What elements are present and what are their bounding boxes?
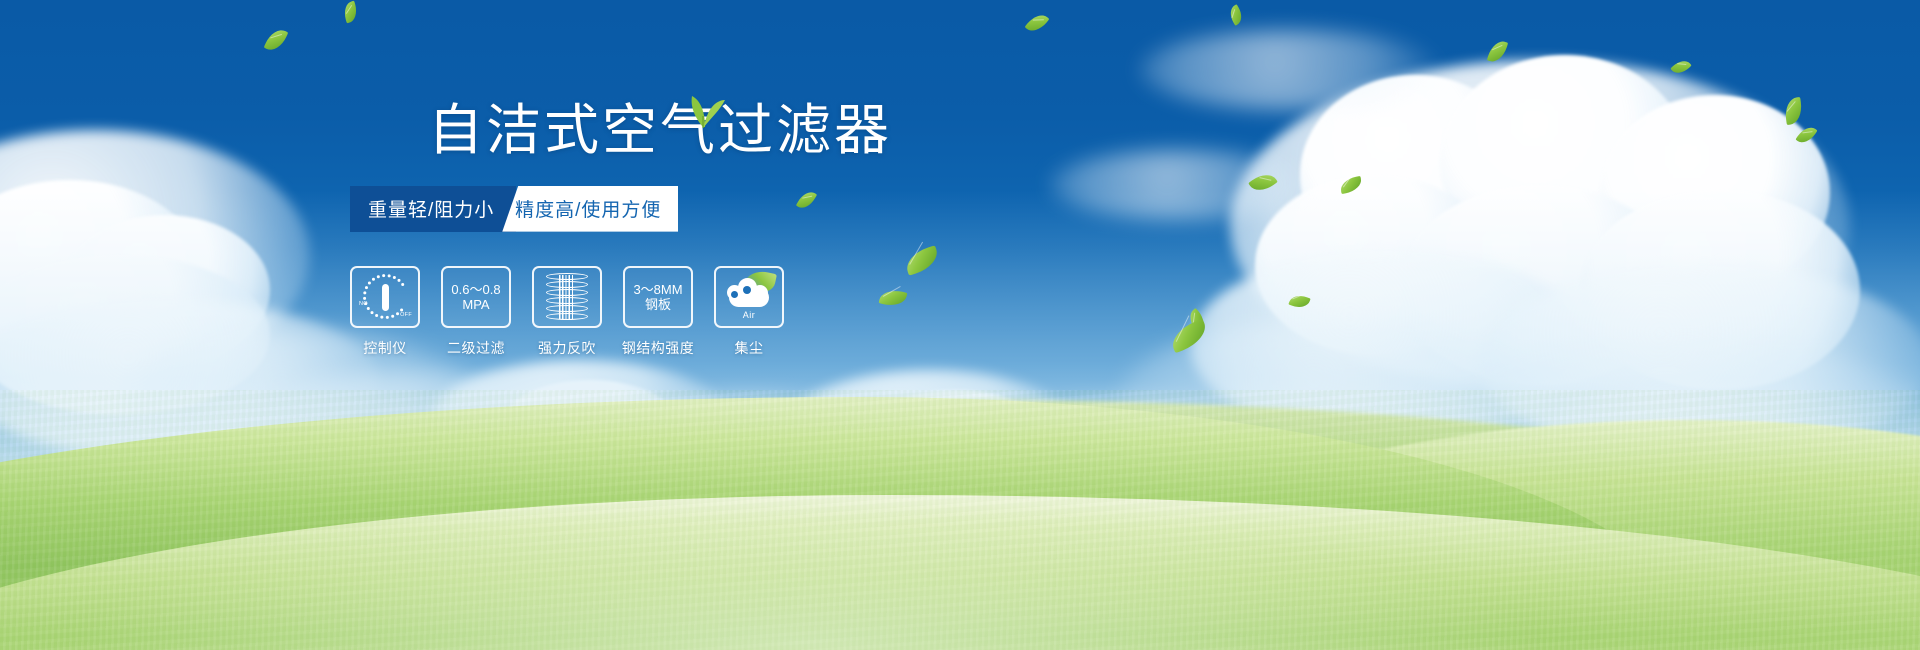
gauge-needle (382, 284, 389, 311)
feature-two-stage-filter-label: 二级过滤 (447, 338, 505, 358)
air-cloud-icon: Air (723, 274, 775, 320)
cloud-notch (731, 291, 738, 298)
feature-controller-box: NO OFF (350, 266, 420, 328)
feature-steel-strength[interactable]: 3～8MM 钢板 钢结构强度 (623, 266, 693, 358)
filter-ring (546, 313, 588, 320)
floating-leaf (1288, 292, 1310, 311)
floating-leaf (1185, 308, 1209, 333)
floating-leaf (342, 1, 360, 24)
filter-ring (546, 289, 588, 296)
floating-leaf (264, 26, 289, 55)
steel-plate-text: 钢板 (645, 297, 671, 312)
gauge-icon: NO OFF (358, 272, 412, 322)
feature-row: NO OFF 控制仪 0.6～0.8 MPA 二级过滤 (350, 266, 970, 358)
pressure-unit-text: MPA (462, 297, 489, 312)
feature-blowback[interactable]: 强力反吹 (532, 266, 602, 358)
cloud-puff (1255, 175, 1495, 355)
floating-leaf (1783, 97, 1803, 125)
cloud-puff (1300, 75, 1530, 275)
floating-leaf (1339, 176, 1363, 194)
feature-blowback-label: 强力反吹 (538, 338, 596, 358)
feature-steel-strength-box: 3～8MM 钢板 (623, 266, 693, 328)
page-title: 自洁式空气过滤器 (350, 100, 970, 162)
badge-light-weight[interactable]: 重量轻/阻力小 (350, 186, 516, 232)
cloud-puff (0, 180, 200, 355)
floating-leaf (1226, 4, 1245, 26)
gauge-min-label: NO (359, 301, 368, 307)
cloud-puff (1230, 60, 1850, 390)
feature-dust-collection-box: Air (714, 266, 784, 328)
air-label: Air (723, 310, 775, 320)
floating-leaf (1795, 123, 1817, 147)
steel-thickness-text: 3～8MM (633, 282, 682, 297)
cloud-puff (60, 215, 270, 365)
cloud-wisp (1140, 30, 1440, 110)
cloud-puff (1400, 185, 1680, 385)
pressure-range-text: 0.6～0.8 (451, 282, 500, 297)
feature-controller-label: 控制仪 (363, 338, 407, 358)
cloud-puff (1600, 95, 1830, 290)
filter-ring (546, 305, 588, 312)
filter-ring (546, 297, 588, 304)
hero-banner: 自洁式空气过滤器 重量轻/阻力小 精度高/使用方便 (0, 0, 1920, 650)
floating-leaf (1167, 319, 1210, 354)
feature-two-stage-filter[interactable]: 0.6～0.8 MPA 二级过滤 (441, 266, 511, 358)
floating-leaf (1025, 10, 1050, 36)
filter-ring (546, 273, 588, 280)
floating-leaf (1248, 169, 1278, 196)
floating-leaf (1670, 57, 1691, 78)
gauge-max-label: OFF (400, 312, 412, 318)
cloud-puff (1580, 190, 1860, 390)
title-leaf-icon (680, 92, 726, 128)
cloud-notch (743, 286, 751, 294)
feature-dust-collection-label: 集尘 (735, 338, 764, 358)
filter-ring (546, 281, 588, 288)
cloud-puff (0, 130, 310, 380)
cloud-wisp (1050, 150, 1310, 220)
feature-controller[interactable]: NO OFF 控制仪 (350, 266, 420, 358)
feature-steel-strength-label: 钢结构强度 (622, 338, 695, 358)
cloud-puff (1440, 55, 1690, 270)
feature-two-stage-filter-box: 0.6～0.8 MPA (441, 266, 511, 328)
banner-content: 自洁式空气过滤器 重量轻/阻力小 精度高/使用方便 (350, 100, 970, 358)
floating-leaf (1487, 38, 1508, 65)
feature-dust-collection[interactable]: Air 集尘 (714, 266, 784, 358)
badge-high-precision[interactable]: 精度高/使用方便 (502, 186, 678, 232)
feature-blowback-box (532, 266, 602, 328)
cloud-puff (0, 255, 270, 415)
filter-stack-icon (546, 273, 588, 321)
badge-row: 重量轻/阻力小 精度高/使用方便 (350, 186, 670, 232)
